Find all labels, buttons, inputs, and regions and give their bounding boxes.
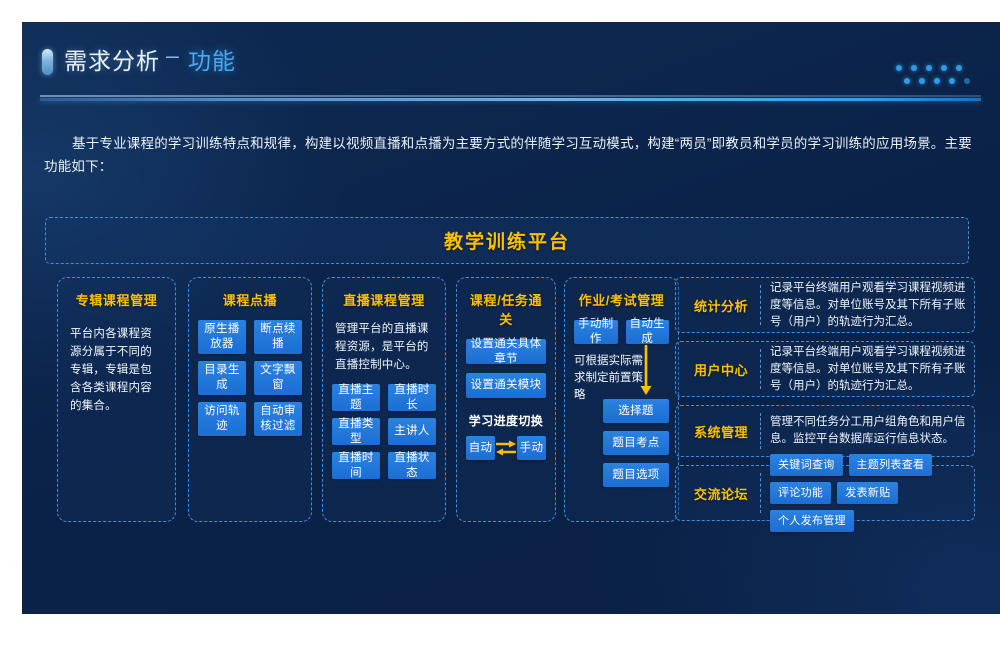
module-label: 交流论坛: [682, 484, 760, 503]
bidirectional-arrows-icon: [495, 436, 517, 460]
feature-button-grid: 原生播放器 断点续播 目录生成 文字飘窗 访问轨迹 自动审核过滤: [198, 320, 302, 436]
down-arrow-icon: [639, 345, 653, 402]
feature-button[interactable]: 原生播放器: [198, 320, 246, 354]
feature-button-grid: 直播主题 直播时长 直播类型 主讲人 直播时间 直播状态: [332, 384, 436, 479]
feature-button[interactable]: 直播时间: [332, 452, 380, 479]
forum-button-group: 关键词查询 主题列表查看 评论功能 发表新贴 个人发布管理: [770, 454, 966, 532]
module-description: 管理不同任务分工用户组角色和用户信息。监控平台数据库运行信息状态。: [770, 414, 966, 448]
feature-button[interactable]: 自动审核过滤: [254, 402, 302, 436]
slide-header: 需求分析 – 功能: [22, 22, 1000, 110]
generation-mode-buttons: 手动制作 自动生成: [574, 320, 669, 344]
manual-create-button[interactable]: 手动制作: [574, 320, 618, 344]
feature-button[interactable]: 直播时长: [388, 384, 436, 411]
feature-button[interactable]: 题目选项: [603, 463, 669, 487]
feature-button[interactable]: 断点续播: [254, 320, 302, 354]
dot-icon: [941, 65, 947, 71]
dot-icon: [911, 65, 917, 71]
module-row-user-center: 用户中心 记录平台终端用户观看学习课程视频进度等信息。对单位账号及其下所有子账号…: [675, 341, 975, 397]
module-label: 统计分析: [682, 296, 760, 315]
feature-button[interactable]: 主讲人: [388, 418, 436, 445]
card-title: 专辑课程管理: [67, 290, 166, 309]
feature-button[interactable]: 设置通关具体章节: [466, 339, 546, 364]
page-subtitle: 功能: [188, 42, 236, 76]
forum-button[interactable]: 关键词查询: [770, 454, 843, 476]
card-live-course-management: 直播课程管理 管理平台的直播课程资源，是平台的直播控制中心。 直播主题 直播时长…: [322, 277, 446, 522]
right-modules-column: 统计分析 记录平台终端用户观看学习课程视频进度等信息。对单位账号及其下所有子账号…: [675, 277, 975, 529]
forum-button[interactable]: 个人发布管理: [770, 510, 854, 532]
switch-auto-button[interactable]: 自动: [466, 436, 495, 460]
module-description: 记录平台终端用户观看学习课程视频进度等信息。对单位账号及其下所有子账号（用户）的…: [770, 280, 966, 331]
forum-button[interactable]: 评论功能: [770, 482, 831, 504]
feature-button[interactable]: 访问轨迹: [198, 402, 246, 436]
card-title: 课程/任务通关: [466, 290, 546, 328]
forum-button[interactable]: 主题列表查看: [849, 454, 933, 476]
feature-button[interactable]: 题目考点: [603, 431, 669, 455]
intro-paragraph: 基于专业课程的学习训练特点和规律，构建以视频直播和点播为主要方式的伴随学习互动模…: [44, 132, 976, 178]
card-title: 作业/考试管理: [574, 290, 669, 309]
module-description: 记录平台终端用户观看学习课程视频进度等信息。对单位账号及其下所有子账号（用户）的…: [770, 344, 966, 395]
module-row-system-management: 系统管理 管理不同任务分工用户组角色和用户信息。监控平台数据库运行信息状态。: [675, 405, 975, 457]
row-divider: [760, 473, 761, 513]
dot-icon: [926, 65, 932, 71]
dot-icon: [956, 65, 962, 71]
card-album-course-management: 专辑课程管理 平台内各课程资源分属于不同的专辑，专辑是包含各类课程内容的集合。: [57, 277, 176, 522]
card-title: 课程点播: [198, 290, 302, 309]
strategy-note-row: 可根据实际需求制定前置策略: [574, 353, 669, 399]
dot-icon: [919, 78, 925, 84]
row-divider: [760, 413, 761, 449]
card-description: 管理平台的直播课程资源，是平台的直播控制中心。: [332, 320, 436, 374]
row-divider: [760, 285, 761, 325]
card-title: 直播课程管理: [332, 290, 436, 309]
feature-button[interactable]: 设置通关模块: [466, 373, 546, 398]
page-title: 需求分析: [64, 42, 160, 76]
platform-banner-title: 教学训练平台: [444, 227, 570, 254]
question-button-stack: 选择题 题目考点 题目选项: [574, 399, 669, 487]
forum-button[interactable]: 发表新贴: [837, 482, 898, 504]
slide-canvas: 需求分析 – 功能 基于专业课程的学习训练特点和规律，构建以视频直播和点播为主要…: [22, 22, 1000, 614]
functions-area: 专辑课程管理 平台内各课程资源分属于不同的专辑，专辑是包含各类课程内容的集合。 …: [37, 277, 987, 545]
strategy-note: 可根据实际需求制定前置策略: [574, 353, 648, 404]
dot-icon: [949, 78, 955, 84]
switch-manual-button[interactable]: 手动: [517, 436, 546, 460]
feature-button[interactable]: 文字飘窗: [254, 361, 302, 395]
module-label: 系统管理: [682, 422, 760, 441]
auto-generate-button[interactable]: 自动生成: [626, 320, 670, 344]
dot-icon: [896, 65, 902, 71]
dot-icon: [904, 78, 910, 84]
card-course-task-pass: 课程/任务通关 设置通关具体章节 设置通关模块 学习进度切换 自动 手动: [456, 277, 556, 522]
progress-switch-row: 自动 手动: [466, 436, 546, 460]
row-divider: [760, 349, 761, 389]
dot-icon: [964, 78, 970, 84]
card-description: 平台内各课程资源分属于不同的专辑，专辑是包含各类课程内容的集合。: [67, 325, 166, 415]
header-divider: [40, 98, 981, 101]
title-separator: –: [166, 42, 179, 69]
feature-button[interactable]: 直播类型: [332, 418, 380, 445]
feature-button[interactable]: 直播状态: [388, 452, 436, 479]
feature-button[interactable]: 直播主题: [332, 384, 380, 411]
decorative-dots: [896, 65, 982, 91]
feature-button-stack: 设置通关具体章节 设置通关模块: [466, 339, 546, 398]
progress-switch-label: 学习进度切换: [466, 412, 546, 429]
header-pill-icon: [42, 49, 53, 75]
card-homework-exam-management: 作业/考试管理 手动制作 自动生成 可根据实际需求制定前置策略 选择题 题目考点…: [564, 277, 679, 522]
feature-button[interactable]: 目录生成: [198, 361, 246, 395]
card-course-vod: 课程点播 原生播放器 断点续播 目录生成 文字飘窗 访问轨迹 自动审核过滤: [188, 277, 312, 522]
module-row-forum: 交流论坛 关键词查询 主题列表查看 评论功能 发表新贴 个人发布管理: [675, 465, 975, 521]
module-label: 用户中心: [682, 360, 760, 379]
dot-icon: [934, 78, 940, 84]
platform-banner: 教学训练平台: [45, 217, 969, 264]
module-row-statistics: 统计分析 记录平台终端用户观看学习课程视频进度等信息。对单位账号及其下所有子账号…: [675, 277, 975, 333]
